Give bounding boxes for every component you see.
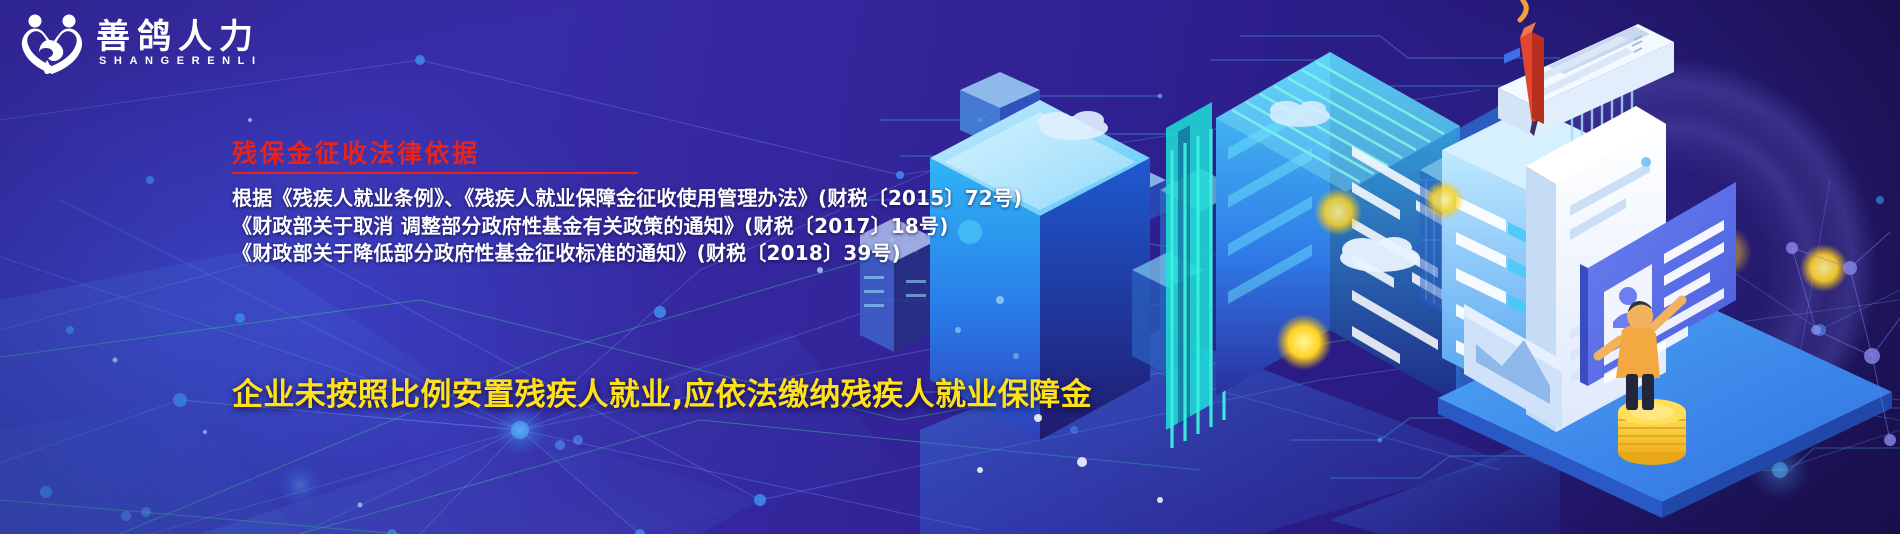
logo-wordmark: 善鸽人力 SHANGERENLI [96, 19, 263, 68]
law-basis-heading-underline [232, 172, 638, 174]
logo-name-en: SHANGERENLI [96, 56, 263, 67]
law-basis-line: 根据《残疾人就业条例》、《残疾人就业保障金征收使用管理办法》(财税〔2015〕7… [232, 185, 1022, 211]
law-basis-section: 残保金征收法律依据 根据《残疾人就业条例》、《残疾人就业保障金征收使用管理办法》… [232, 138, 1022, 266]
heart-dove-logo-icon [18, 10, 86, 76]
law-basis-line: 《财政部关于取消 调整部分政府性基金有关政策的通知》(财税〔2017〕18号) [232, 213, 1022, 239]
banner-tagline: 企业未按照比例安置残疾人就业,应依法缴纳残疾人就业保障金 [232, 377, 1092, 414]
promo-banner: 善鸽人力 SHANGERENLI 残保金征收法律依据 根据《残疾人就业条例》、《… [0, 0, 1900, 534]
law-basis-heading: 残保金征收法律依据 [232, 138, 1022, 169]
law-basis-list: 根据《残疾人就业条例》、《残疾人就业保障金征收使用管理办法》(财税〔2015〕7… [232, 185, 1022, 266]
logo-name-cn: 善鸽人力 [96, 19, 263, 56]
law-basis-line: 《财政部关于降低部分政府性基金征收标准的通知》(财税〔2018〕39号) [232, 240, 1022, 266]
brand-logo[interactable]: 善鸽人力 SHANGERENLI [18, 10, 263, 76]
network-constellation-graphic [0, 0, 1900, 534]
